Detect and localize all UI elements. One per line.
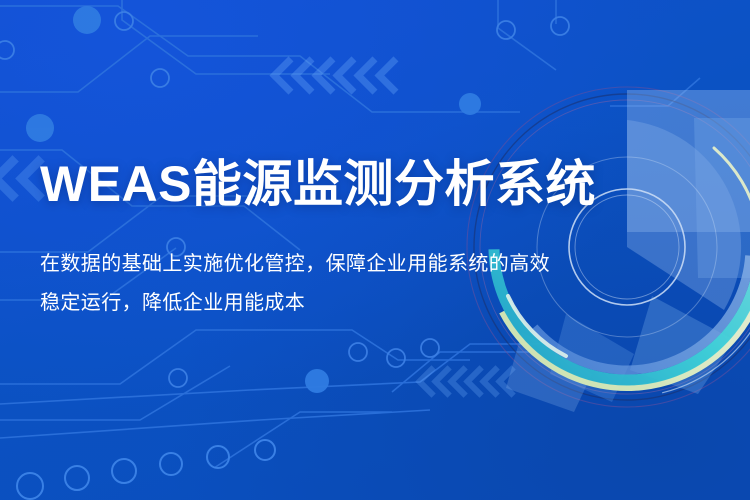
chevron-group-top [275, 52, 405, 96]
bottom-circle-row [10, 430, 340, 500]
energy-monitoring-banner: WEAS能源监测分析系统 在数据的基础上实施优化管控，保障企业用能系统的高效稳定… [0, 0, 750, 500]
page-subtitle: 在数据的基础上实施优化管控，保障企业用能系统的高效稳定运行，降低企业用能成本 [40, 245, 560, 323]
page-title: WEAS能源监测分析系统 [40, 158, 600, 211]
banner-text-block: WEAS能源监测分析系统 在数据的基础上实施优化管控，保障企业用能系统的高效稳定… [40, 158, 600, 323]
